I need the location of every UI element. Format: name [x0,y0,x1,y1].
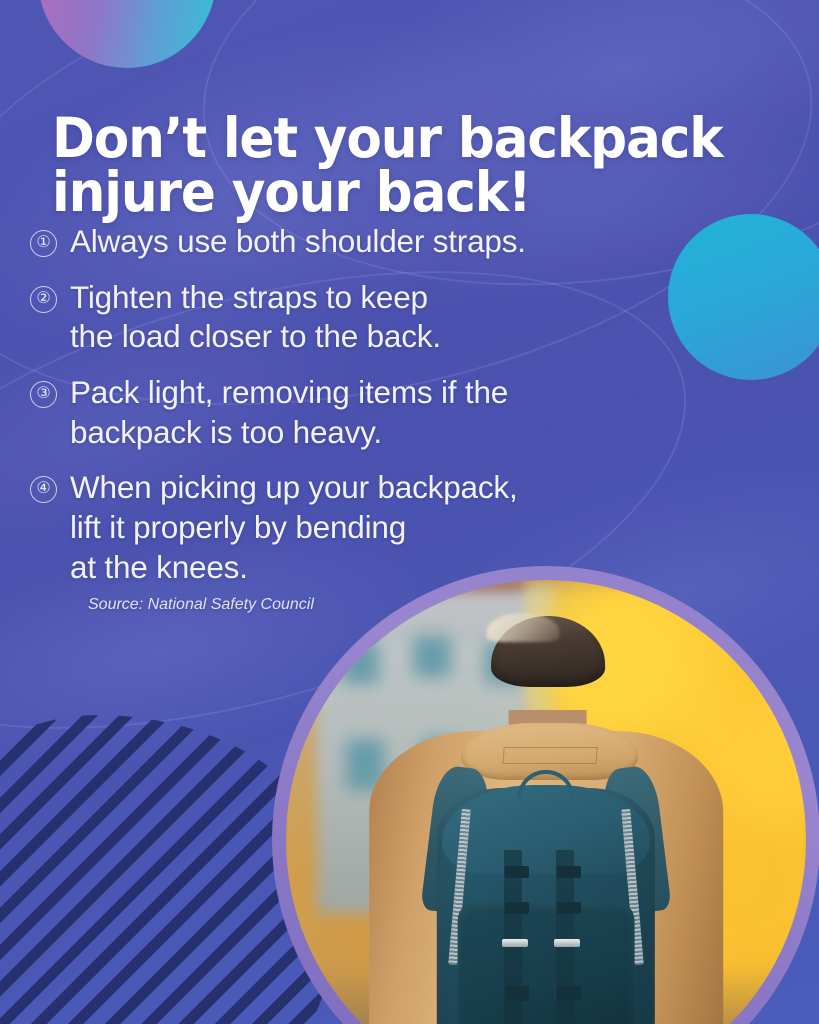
photo-backpack-metal-clip [502,939,528,947]
boy-with-backpack-photo [286,580,806,1024]
photo-backpack-buckle [505,902,528,914]
photo-backpack-buckle [557,866,580,878]
tip-2-line-1: Tighten the straps to keep [70,278,441,318]
circled-number-3-icon: ③ [30,381,57,408]
photo-backpack-lid [442,785,650,873]
list-item: ③ Pack light, removing items if the back… [30,373,730,452]
tip-2-line-2: the load closer to the back. [70,317,441,357]
tip-4-line-1: When picking up your backpack, [70,468,518,508]
photo-backpack-buckle [557,986,580,1002]
page-title: Don’t let your backpack injure your back… [52,111,748,220]
tip-text-3: Pack light, removing items if the backpa… [70,373,508,452]
headline-line-1: Don’t let your backpack [52,111,748,165]
circled-number-1-icon: ① [30,230,57,257]
tips-list: ① Always use both shoulder straps. ② Tig… [30,222,730,604]
photo-boy-figure [286,580,806,1024]
list-item: ② Tighten the straps to keep the load cl… [30,278,730,357]
circled-number-4-icon: ④ [30,476,57,503]
photo-circle [272,566,819,1024]
list-item: ① Always use both shoulder straps. [30,222,730,262]
photo-backpack-metal-clip [554,939,580,947]
circled-number-2-icon: ② [30,286,57,313]
tip-4-line-2: lift it properly by bending [70,508,518,548]
tip-text-2: Tighten the straps to keep the load clos… [70,278,441,357]
photo-backpack-buckle [505,866,528,878]
tip-3-line-2: backpack is too heavy. [70,413,508,453]
photo-backpack-front-pocket [458,902,635,1024]
backpack-safety-poster: Don’t let your backpack injure your back… [0,0,819,1024]
tip-1-line-1: Always use both shoulder straps. [70,222,526,262]
tip-3-line-1: Pack light, removing items if the [70,373,508,413]
photo-backpack-buckle [505,986,528,1002]
photo-backpack-buckle [557,902,580,914]
tip-text-1: Always use both shoulder straps. [70,222,526,262]
headline-line-2: injure your back! [52,165,748,219]
